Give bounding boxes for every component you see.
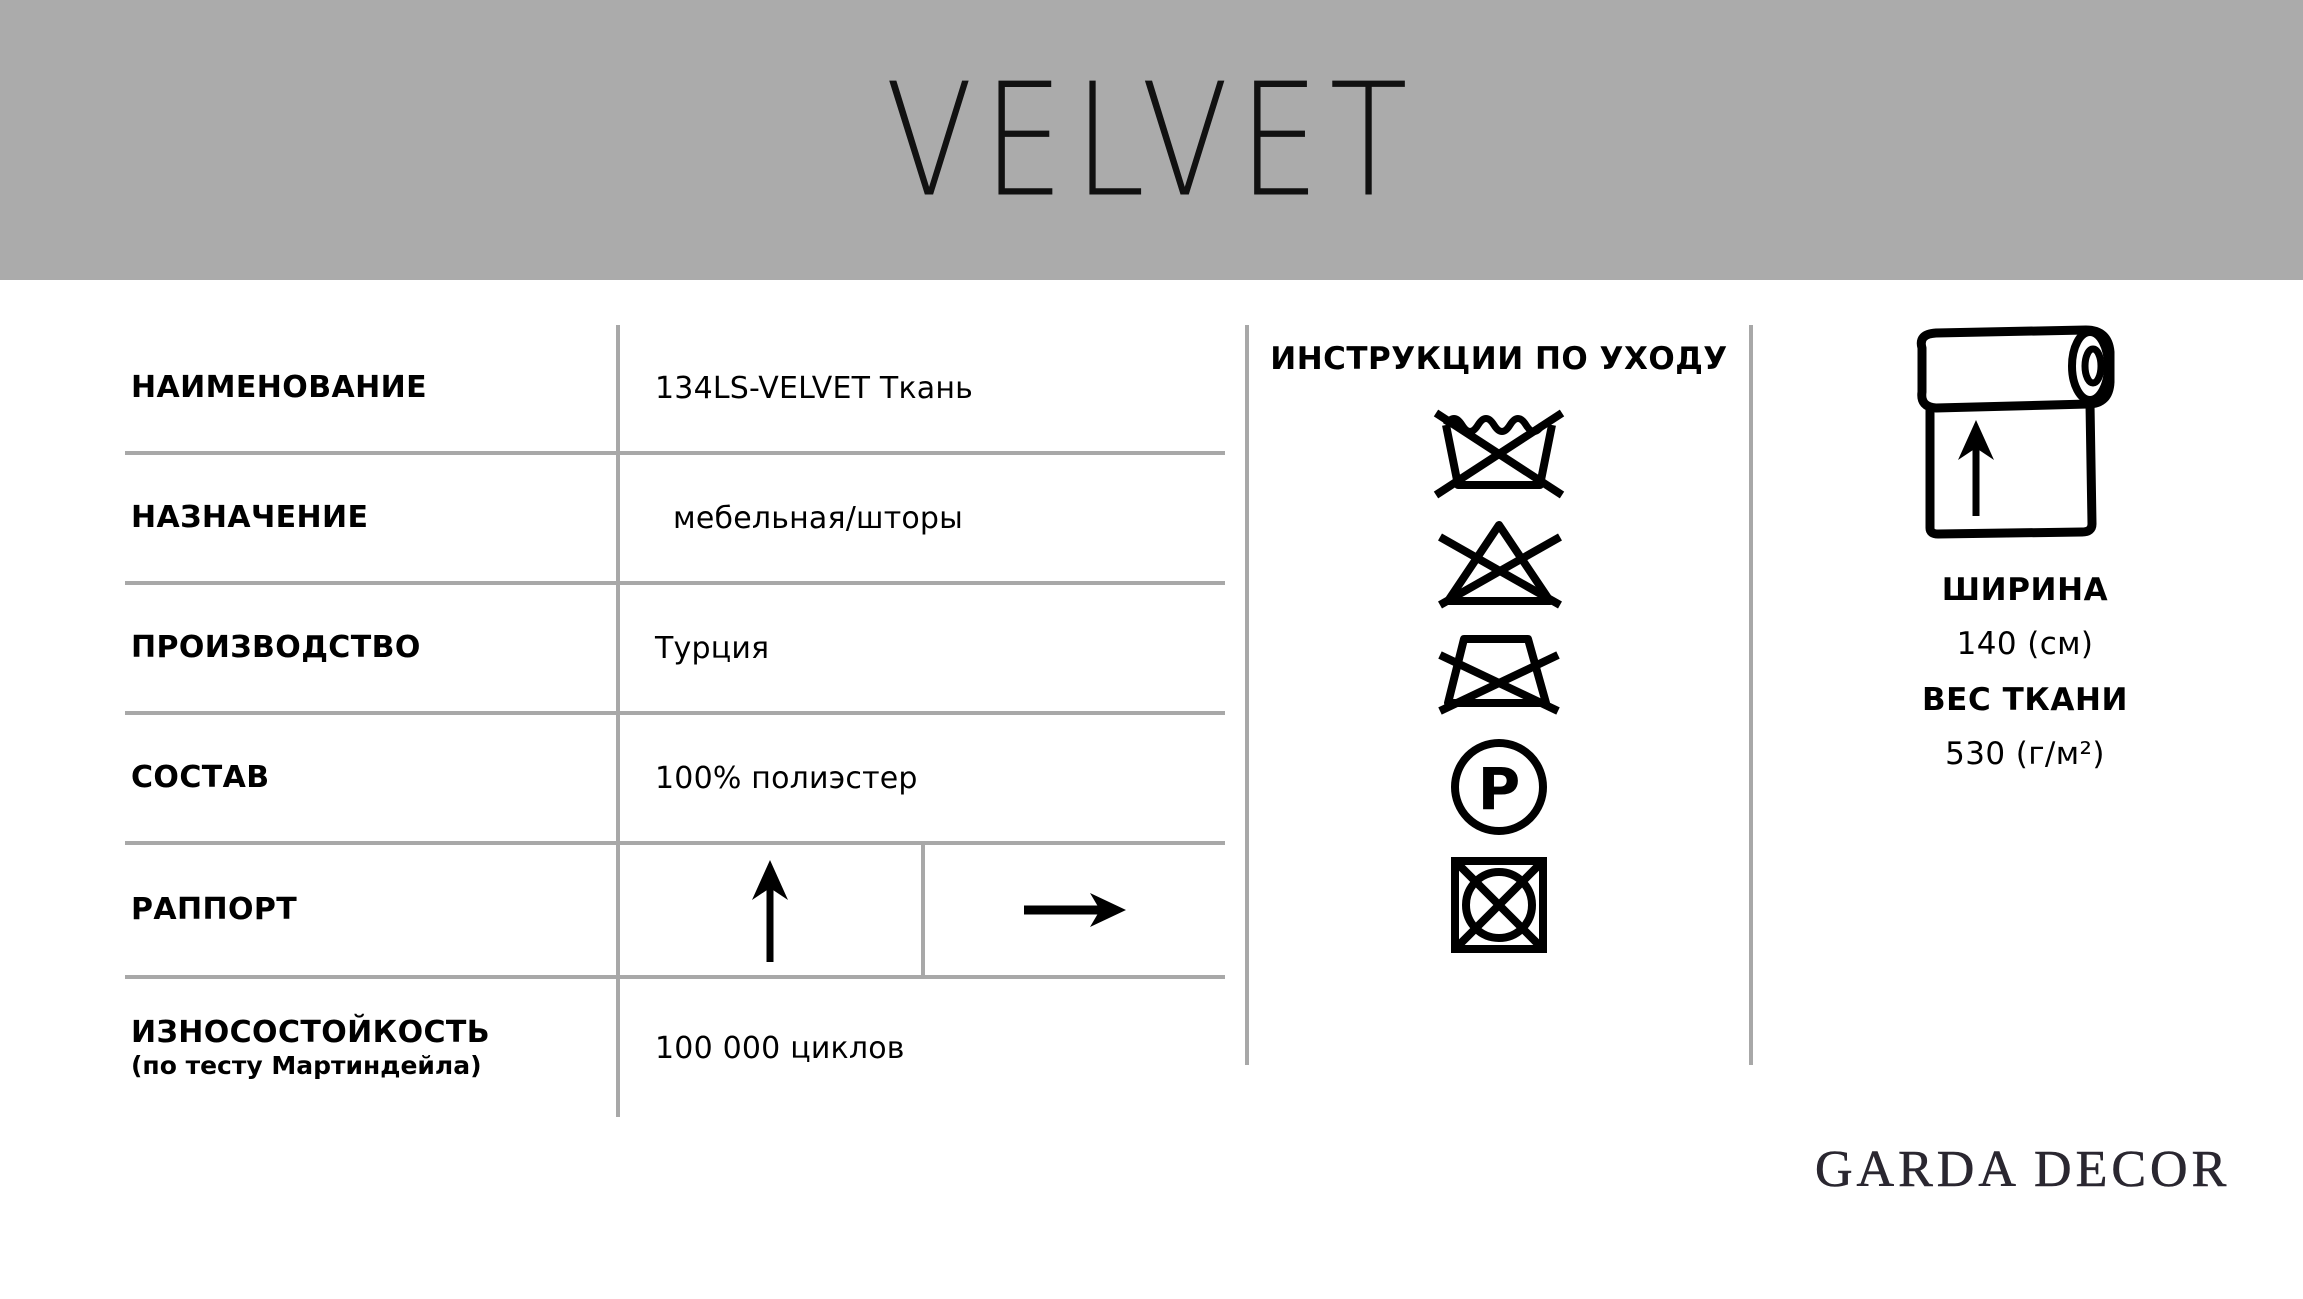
spec-label: НАИМЕНОВАНИЕ	[131, 370, 616, 405]
care-symbol-list: P	[1424, 401, 1574, 957]
fabric-meta-section: ШИРИНА 140 (см) ВЕС ТКАНИ 530 (г/м²)	[1790, 320, 2260, 772]
table-row: ИЗНОСОСТОЙКОСТЬ (по тесту Мартиндейла) 1…	[125, 977, 1225, 1117]
row-value-cell: 100 000 циклов	[618, 977, 1225, 1117]
spec-value: мебельная/шторы	[655, 501, 1225, 536]
specification-table: НАИМЕНОВАНИЕ 134LS-VELVET Ткань НАЗНАЧЕН…	[125, 325, 1225, 1117]
spec-label: ИЗНОСОСТОЙКОСТЬ	[131, 1015, 616, 1050]
table-row: СОСТАВ 100% полиэстер	[125, 713, 1225, 843]
weight-label: ВЕС ТКАНИ	[1922, 682, 2128, 718]
page-title: VELVET	[885, 64, 1417, 220]
arrow-up-icon	[738, 858, 802, 962]
table-row: РАППОРТ	[125, 843, 1225, 977]
spec-value: 134LS-VELVET Ткань	[655, 371, 1225, 406]
table-row: НАЗНАЧЕНИЕ мебельная/шторы	[125, 453, 1225, 583]
row-label-cell: ПРОИЗВОДСТВО	[125, 583, 618, 713]
header-band: VELVET	[0, 0, 2303, 280]
dry-clean-p-icon: P	[1447, 735, 1551, 839]
spec-sublabel: (по тесту Мартиндейла)	[131, 1051, 616, 1081]
row-value-cell	[618, 843, 1225, 977]
row-label-cell: РАППОРТ	[125, 843, 618, 977]
width-value: 140 (см)	[1957, 626, 2094, 662]
svg-text:P: P	[1478, 755, 1521, 823]
spec-value: 100 000 циклов	[655, 1031, 1225, 1066]
row-label-cell: НАЗНАЧЕНИЕ	[125, 453, 618, 583]
fabric-roll-icon	[1900, 320, 2150, 550]
spec-label: ПРОИЗВОДСТВО	[131, 630, 616, 665]
row-value-cell: Турция	[618, 583, 1225, 713]
table-row: НАИМЕНОВАНИЕ 134LS-VELVET Ткань	[125, 325, 1225, 453]
spec-label: РАППОРТ	[131, 892, 616, 927]
row-value-cell: мебельная/шторы	[618, 453, 1225, 583]
do-not-wash-icon	[1424, 401, 1574, 501]
spec-label: СОСТАВ	[131, 760, 616, 795]
brand-logo: GARDA DECOR	[1815, 1140, 2230, 1199]
spec-value: Турция	[655, 631, 1225, 666]
table-row: ПРОИЗВОДСТВО Турция	[125, 583, 1225, 713]
spec-label: НАЗНАЧЕНИЕ	[131, 500, 616, 535]
row-value-cell: 134LS-VELVET Ткань	[618, 325, 1225, 453]
do-not-bleach-icon	[1424, 515, 1574, 615]
spec-value: 100% полиэстер	[655, 761, 1225, 796]
rapport-vertical-cell	[620, 845, 921, 975]
weight-value: 530 (г/м²)	[1945, 736, 2105, 772]
care-instructions-title: ИНСТРУКЦИИ ПО УХОДУ	[1270, 341, 1727, 377]
care-instructions-section: ИНСТРУКЦИИ ПО УХОДУ	[1245, 325, 1753, 1065]
rapport-horizontal-cell	[921, 845, 1226, 975]
do-not-iron-icon	[1424, 629, 1574, 721]
do-not-tumble-dry-icon	[1447, 853, 1551, 957]
arrow-right-icon	[1020, 881, 1130, 939]
row-label-cell: НАИМЕНОВАНИЕ	[125, 325, 618, 453]
row-value-cell: 100% полиэстер	[618, 713, 1225, 843]
width-label: ШИРИНА	[1942, 572, 2108, 608]
row-label-cell: СОСТАВ	[125, 713, 618, 843]
row-label-cell: ИЗНОСОСТОЙКОСТЬ (по тесту Мартиндейла)	[125, 977, 618, 1117]
